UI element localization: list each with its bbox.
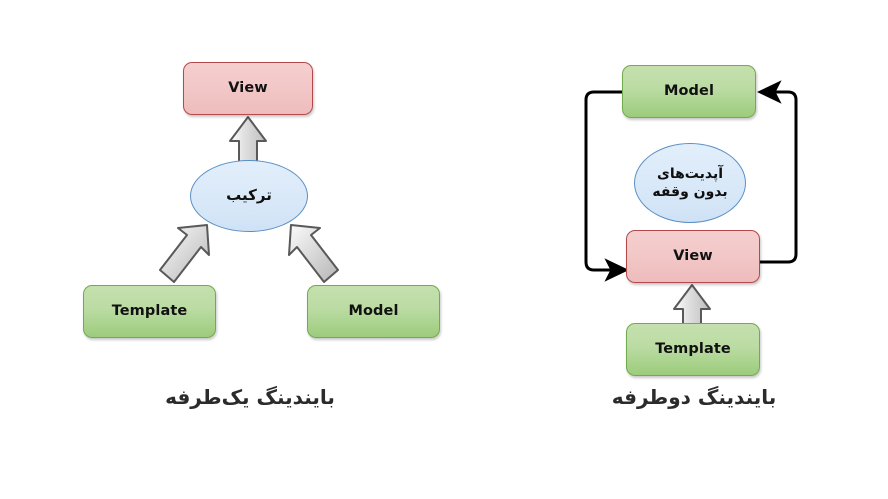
diagram-canvas: View ترکیب Template Model بایندینگ یک‌طر… <box>0 0 888 499</box>
connector-view-to-model <box>758 92 796 262</box>
panel-two-way-binding: Model آپدیت‌های بدون وقفه View Template … <box>500 0 888 499</box>
caption-two-way-binding: بایندینگ دوطرفه <box>500 385 888 409</box>
node-model-label: Model <box>664 83 714 100</box>
node-template[interactable]: Template <box>83 285 216 338</box>
node-template-label: Template <box>655 341 731 358</box>
node-combine[interactable]: ترکیب <box>190 160 308 232</box>
arrow-template-to-combine <box>160 225 209 282</box>
node-continuous-updates-label: آپدیت‌های بدون وقفه <box>652 165 727 201</box>
node-view[interactable]: View <box>626 230 760 283</box>
arrow-model-to-combine <box>289 225 338 282</box>
node-continuous-updates[interactable]: آپدیت‌های بدون وقفه <box>634 143 746 223</box>
caption-one-way-binding: بایندینگ یک‌طرفه <box>0 385 500 409</box>
node-view[interactable]: View <box>183 62 313 115</box>
arrow-combine-to-view <box>230 117 266 165</box>
node-template[interactable]: Template <box>626 323 760 376</box>
node-view-label: View <box>673 248 713 265</box>
node-model[interactable]: Model <box>307 285 440 338</box>
node-combine-label: ترکیب <box>226 187 272 205</box>
node-view-label: View <box>228 80 268 97</box>
node-model-label: Model <box>348 303 398 320</box>
panel-one-way-binding: View ترکیب Template Model بایندینگ یک‌طر… <box>0 0 500 499</box>
node-model[interactable]: Model <box>622 65 756 118</box>
connector-model-to-view <box>586 92 626 270</box>
node-template-label: Template <box>112 303 188 320</box>
arrow-template-to-view <box>674 285 710 327</box>
